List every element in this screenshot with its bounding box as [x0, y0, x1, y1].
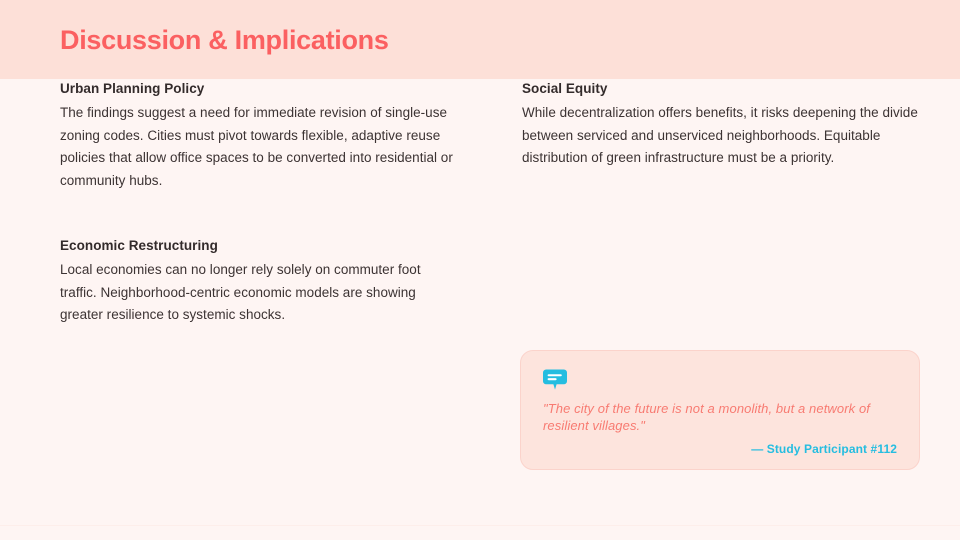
quote-card: "The city of the future is not a monolit…: [520, 350, 920, 470]
header-band: Discussion & Implications: [0, 0, 960, 79]
page-title: Discussion & Implications: [60, 24, 389, 56]
right-column: Social Equity While decentralization off…: [522, 79, 922, 214]
section-urban-planning-policy: Urban Planning Policy The findings sugge…: [60, 79, 460, 192]
section-body: Local economies can no longer rely solel…: [60, 259, 460, 327]
section-body: While decentralization offers benefits, …: [522, 102, 922, 170]
section-heading: Urban Planning Policy: [60, 79, 460, 99]
section-economic-restructuring: Economic Restructuring Local economies c…: [60, 236, 460, 327]
section-social-equity: Social Equity While decentralization off…: [522, 79, 922, 170]
quote-text: "The city of the future is not a monolit…: [543, 400, 897, 434]
speech-bubble-icon: [543, 369, 567, 391]
section-heading: Economic Restructuring: [60, 236, 460, 256]
section-body: The findings suggest a need for immediat…: [60, 102, 460, 192]
quote-attribution: — Study Participant #112: [543, 442, 897, 456]
left-column: Urban Planning Policy The findings sugge…: [60, 79, 460, 371]
section-heading: Social Equity: [522, 79, 922, 99]
footer-strip: [0, 525, 960, 540]
